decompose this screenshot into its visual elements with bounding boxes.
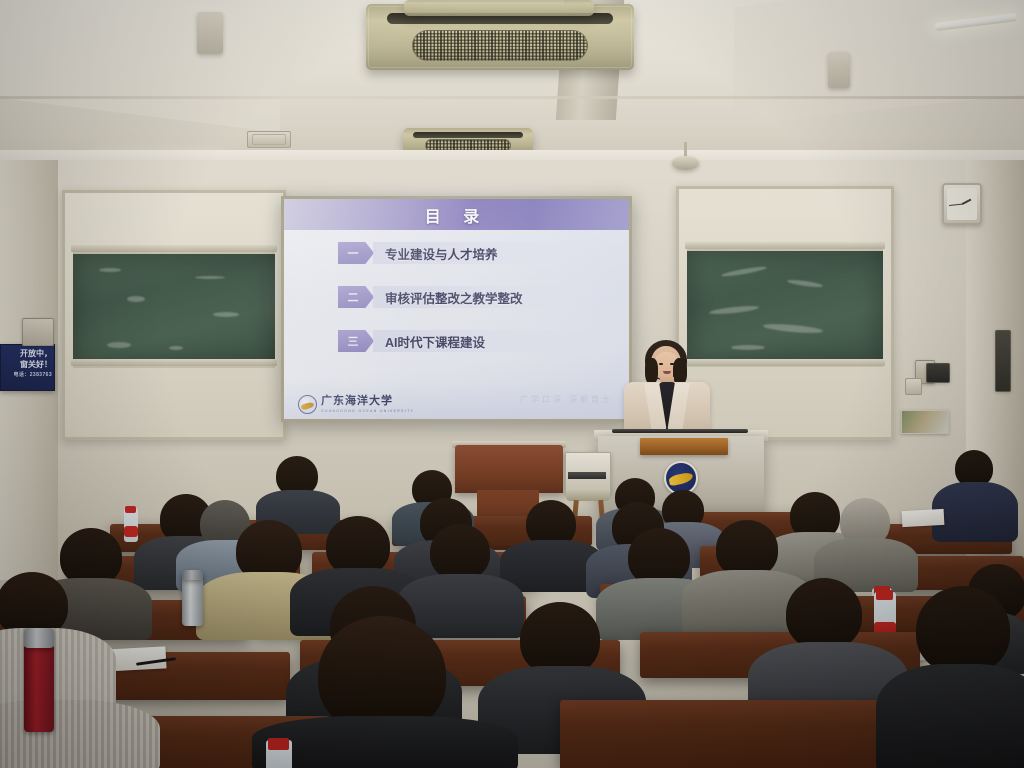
wall-device-right: [926, 363, 950, 383]
presentation-slide: 目 录 一 专业建设与人才培养 二 审核评估整改之教学整改: [284, 199, 629, 419]
chalkboard-rail-bottom-right: [685, 359, 885, 366]
torso: [876, 664, 1024, 768]
chalkboard-unit-left: [62, 190, 286, 440]
ceiling-fan-head: [672, 156, 699, 170]
notice-phone: 电话：2383763: [1, 370, 54, 381]
chalk-mark: [99, 268, 121, 272]
toc-label-3: AI时代下课程建设: [385, 332, 485, 351]
university-logo-text: 广东海洋大学 GUANGDONG OCEAN UNIVERSITY: [321, 396, 414, 413]
chalkboard-rail-top-left: [71, 245, 277, 252]
wall-poster-right: [901, 410, 949, 434]
lectern: [455, 445, 563, 493]
head: [786, 578, 862, 650]
red-thermos-cap: [24, 628, 54, 648]
notice-line-1: 开放中，: [1, 348, 54, 359]
chalk-mark: [763, 322, 823, 334]
water-bottle-label-back-left: [124, 526, 138, 537]
wall-antenna-right: [995, 330, 1011, 392]
wall-notice-sign: 开放中， 窗关好！ 电话：2383763: [0, 344, 55, 391]
slide-title: 目 录: [425, 203, 488, 227]
slide-toc-list: 一 专业建设与人才培养 二 审核评估整改之教学整改: [284, 241, 629, 373]
chalk-mark: [107, 342, 131, 348]
wall-junction-box-left: [22, 318, 54, 346]
projection-screen: 目 录 一 专业建设与人才培养 二 审核评估整改之教学整改: [281, 196, 632, 422]
chalk-mark: [721, 265, 767, 278]
chalk-mark: [787, 279, 823, 289]
water-bottle-cap-front: [268, 738, 289, 750]
papers-right-desk: [902, 509, 945, 527]
toc-row-1: 一 专业建设与人才培养: [284, 241, 629, 265]
university-logo: 广东海洋大学 GUANGDONG OCEAN UNIVERSITY: [298, 395, 414, 414]
desk-row1-right: [560, 700, 890, 768]
ceiling-speaker-left: [197, 12, 223, 54]
podium-wood-panel: [640, 438, 728, 455]
chalkboard-left: [73, 250, 275, 368]
chalk-mark: [731, 345, 765, 350]
slide-title-bar: 目 录: [284, 199, 629, 230]
ceiling-seam: [0, 96, 1024, 99]
torso: [932, 482, 1018, 542]
toc-bar-2: 审核评估整改之教学整改: [373, 286, 609, 308]
toc-row-3: 三 AI时代下课程建设: [284, 329, 629, 353]
toc-bar-3: AI时代下课程建设: [373, 330, 609, 352]
wall-outlet-right: [905, 378, 922, 395]
speaker-hair-side-right: [673, 358, 687, 385]
red-thermos: [24, 644, 54, 732]
lecture-hall-photo: 开放中， 窗关好！ 电话：2383763: [0, 0, 1024, 768]
chalk-mark: [195, 276, 225, 279]
silver-thermos: [182, 574, 203, 626]
ceiling-speaker-right: [828, 52, 850, 88]
head: [916, 586, 1010, 674]
clock-face: [947, 188, 977, 220]
ceiling-vent-inner: [252, 134, 286, 145]
chalk-mark: [127, 296, 145, 302]
toc-badge-number-2: 二: [348, 289, 365, 305]
chalk-mark: [709, 304, 759, 315]
university-seal-icon: [298, 395, 317, 414]
ceiling-ac-housing: [404, 0, 594, 16]
toc-badge-1: 一: [338, 242, 374, 264]
university-name-en: GUANGDONG OCEAN UNIVERSITY: [321, 409, 414, 413]
head: [520, 602, 600, 676]
head: [430, 524, 490, 580]
clock-minute-hand: [949, 203, 962, 206]
water-bottle-cap-back-left: [125, 506, 136, 513]
podium-microphone-bar: [612, 429, 748, 433]
slide-watermark: 广学口深 深根育士: [520, 394, 613, 405]
toc-badge-3: 三: [338, 330, 374, 352]
clock-hour-hand: [962, 199, 972, 205]
ac-grille: [412, 30, 589, 61]
chalkboard-right: [687, 247, 883, 367]
speaker-eye-left: [659, 363, 663, 365]
silver-thermos-cap: [182, 570, 203, 580]
notice-line-2: 窗关好！: [1, 359, 54, 370]
head: [326, 516, 390, 576]
toc-label-1: 专业建设与人才培养: [385, 244, 498, 263]
speaker-hair-side-left: [645, 358, 658, 384]
av-equipment-slot: [568, 472, 606, 479]
chalkboard-rail-top-right: [685, 242, 885, 249]
chalk-mark: [169, 346, 183, 350]
wall-clock: [942, 183, 982, 225]
stool-seat: [566, 490, 610, 501]
toc-label-2: 审核评估整改之教学整改: [385, 288, 523, 307]
toc-row-2: 二 审核评估整改之教学整改: [284, 285, 629, 309]
toc-badge-number-1: 一: [348, 245, 365, 261]
toc-bar-1: 专业建设与人才培养: [373, 242, 609, 264]
ac-air-slot-rear: [413, 132, 522, 138]
chalk-mark: [213, 312, 239, 317]
torso: [0, 628, 116, 708]
toc-badge-2: 二: [338, 286, 374, 308]
water-bottle-cap-row3: [876, 590, 893, 600]
ceiling-beam-left: [0, 0, 280, 132]
chalkboard-rail-bottom-left: [71, 359, 277, 366]
toc-badge-number-3: 三: [348, 333, 365, 349]
university-name-cn: 广东海洋大学: [321, 396, 414, 407]
